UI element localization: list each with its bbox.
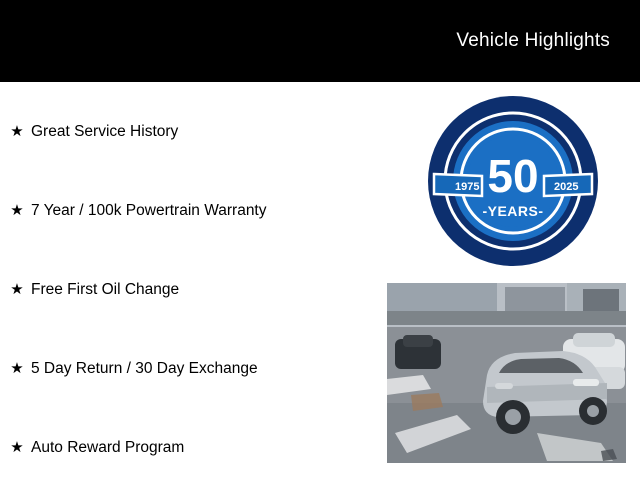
- star-icon: ★: [10, 282, 24, 298]
- badge-year-start: 1975: [455, 181, 479, 193]
- vehicle-photo: [387, 283, 626, 463]
- list-item: ★ Great Service History: [0, 92, 380, 171]
- star-icon: ★: [10, 440, 24, 456]
- anniversary-badge: 1975 2025 50 -YEARS-: [428, 96, 598, 266]
- vehicle-highlights-page: Vehicle Highlights ★ Great Service Histo…: [0, 0, 640, 480]
- badge-number: 50: [487, 150, 538, 202]
- list-item: ★ Auto Reward Program: [0, 408, 380, 487]
- star-icon: ★: [10, 203, 24, 219]
- vehicle-photo-graphic: [387, 283, 626, 463]
- highlight-label: Great Service History: [31, 122, 178, 142]
- highlight-label: Free First Oil Change: [31, 280, 179, 300]
- list-item: ★ 5 Day Return / 30 Day Exchange: [0, 329, 380, 408]
- highlights-list: ★ Great Service History ★ 7 Year / 100k …: [0, 92, 380, 487]
- anniversary-badge-graphic: 1975 2025 50 -YEARS-: [428, 96, 598, 266]
- highlight-label: Auto Reward Program: [31, 438, 184, 458]
- star-icon: ★: [10, 361, 24, 377]
- highlight-label: 5 Day Return / 30 Day Exchange: [31, 359, 258, 379]
- highlight-label: 7 Year / 100k Powertrain Warranty: [31, 201, 267, 221]
- badge-year-end: 2025: [554, 181, 578, 193]
- list-item: ★ 7 Year / 100k Powertrain Warranty: [0, 171, 380, 250]
- list-item: ★ Free First Oil Change: [0, 250, 380, 329]
- badge-subtitle: -YEARS-: [482, 203, 543, 219]
- star-icon: ★: [10, 124, 24, 140]
- header-bar: Vehicle Highlights: [0, 0, 640, 82]
- page-title: Vehicle Highlights: [456, 29, 610, 53]
